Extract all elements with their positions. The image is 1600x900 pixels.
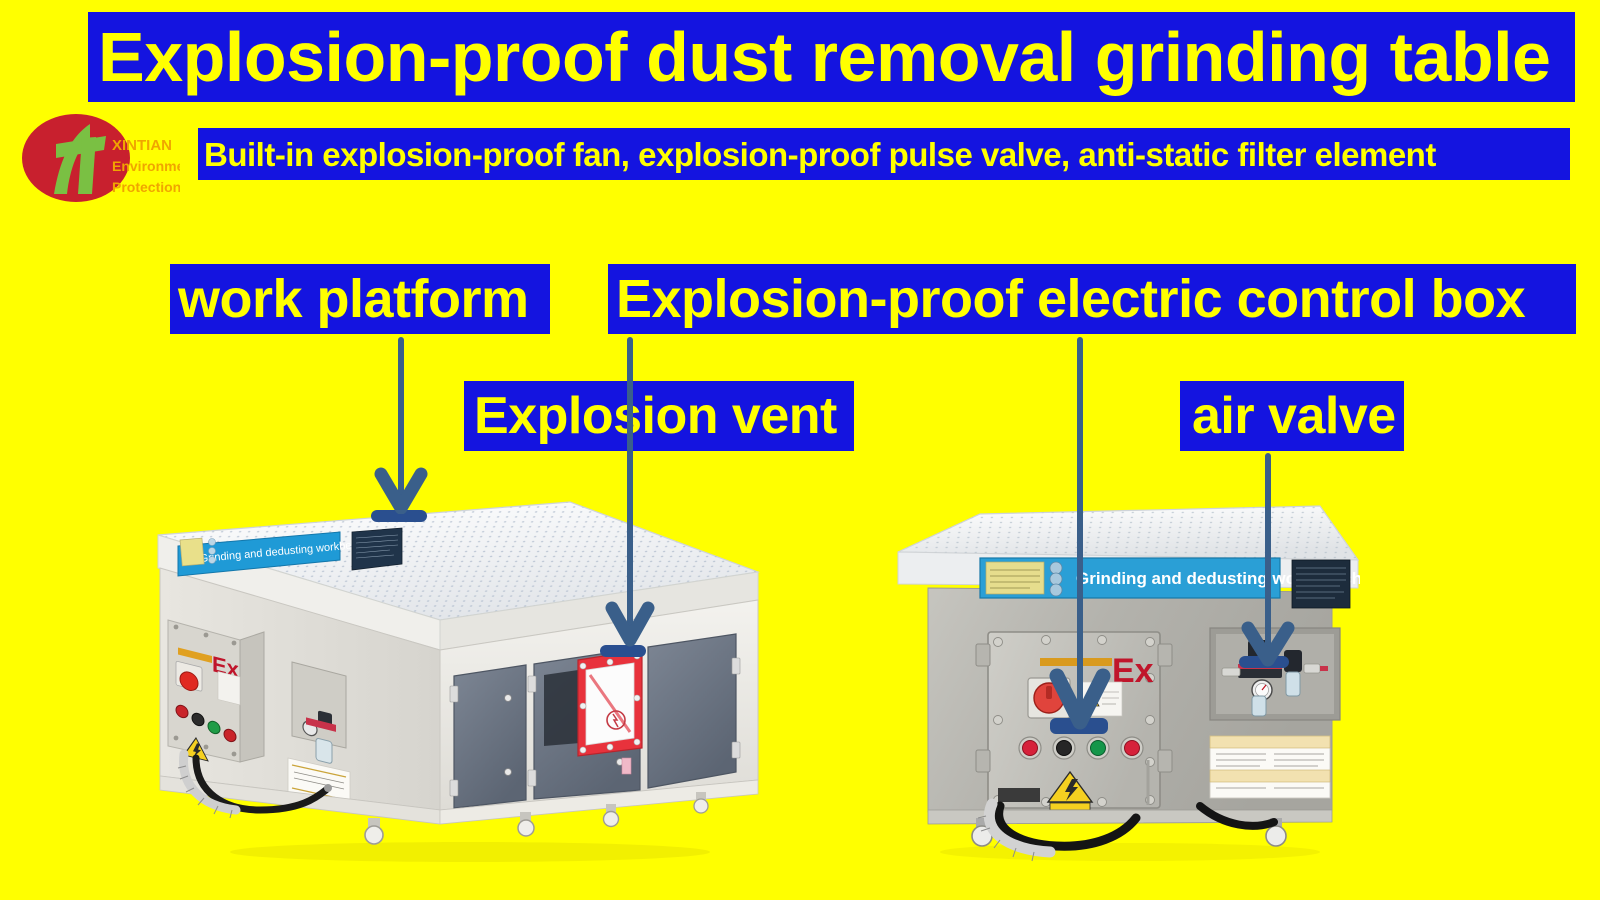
door-hinge xyxy=(528,770,536,786)
caster-wheel xyxy=(694,792,708,813)
arrow-control-box xyxy=(1035,336,1125,732)
box-id-plate xyxy=(998,788,1040,802)
door-hinge xyxy=(732,658,740,674)
filter-bowl-2 xyxy=(1252,696,1266,716)
arrow-explosion-vent xyxy=(590,336,670,648)
cabinet-door-3[interactable] xyxy=(648,634,736,788)
cable-gland xyxy=(324,784,332,792)
callout-work-platform: work platform xyxy=(170,264,550,334)
arrow-work-platform xyxy=(355,334,455,514)
explosion-vent-panel xyxy=(578,650,642,756)
poster-canvas: Explosion-proof dust removal grinding ta… xyxy=(0,0,1600,900)
indicator-dot xyxy=(209,548,216,555)
spec-sticker-yellow xyxy=(180,538,204,566)
logo-line3: Protection xyxy=(112,179,180,195)
box-hinge xyxy=(976,644,990,666)
push-button-red-1[interactable] xyxy=(1023,741,1038,756)
cabinet-door-1[interactable] xyxy=(454,665,526,808)
box-hinge xyxy=(976,750,990,772)
push-button-red-2[interactable] xyxy=(1125,741,1140,756)
filter-bowl xyxy=(316,738,332,764)
indicator-dot xyxy=(209,539,216,546)
door-hinge xyxy=(450,686,458,702)
push-button-black[interactable] xyxy=(1057,741,1072,756)
door-hinge xyxy=(528,676,536,692)
company-logo: XINTIAN Environmental Protection xyxy=(20,108,180,208)
spec-plate xyxy=(352,528,402,570)
control-box-side xyxy=(240,632,264,762)
page-title: Explosion-proof dust removal grinding ta… xyxy=(88,12,1575,102)
box-latch xyxy=(1158,644,1172,666)
door-hinge xyxy=(732,742,740,758)
box-latch xyxy=(1158,750,1172,772)
hazard-text-label xyxy=(218,671,240,704)
logo-line2: Environmental xyxy=(112,158,180,174)
push-button-green[interactable] xyxy=(1091,741,1106,756)
caster-wheel xyxy=(365,818,383,844)
door-latch xyxy=(505,769,512,776)
door-latch xyxy=(505,695,512,702)
door-hinge xyxy=(450,780,458,796)
callout-explosion-proof-electric-control-box: Explosion-proof electric control box xyxy=(608,264,1576,334)
filter-bowl xyxy=(1286,672,1300,696)
logo-line1: XINTIAN xyxy=(112,137,172,154)
hang-tag xyxy=(622,758,631,774)
indicator-dot xyxy=(209,557,216,564)
air-valve-niche xyxy=(292,662,346,748)
page-subtitle: Built-in explosion-proof fan, explosion-… xyxy=(198,128,1570,180)
callout-air-valve: air valve xyxy=(1180,381,1404,451)
arrow-air-valve xyxy=(1228,452,1308,670)
